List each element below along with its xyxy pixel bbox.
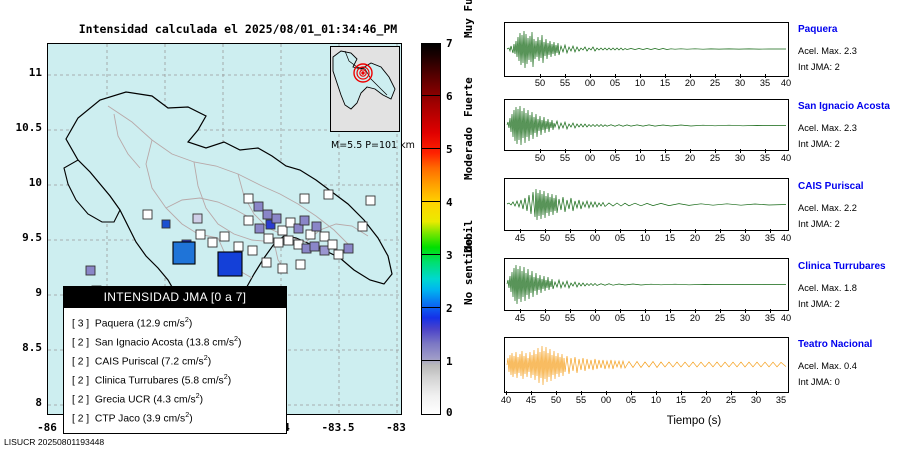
legend-level: [ 2 ]	[72, 356, 89, 367]
tick-label: 25	[704, 153, 726, 163]
station-label: San Ignacio Acosta	[798, 101, 890, 112]
station-marker-paquera	[173, 242, 195, 264]
jma-intensity: Int JMA: 0	[798, 377, 840, 387]
tick-label: 10	[645, 395, 667, 405]
colorbar-tick	[421, 360, 441, 361]
legend-accel: 3.9	[146, 414, 160, 425]
colorbar-label: 5	[446, 143, 460, 156]
legend-unit: cm/s	[202, 375, 224, 386]
epicenter-inset-map[interactable]	[330, 46, 400, 132]
tick-label: 30	[734, 313, 756, 323]
colorbar-label: 2	[446, 302, 460, 315]
lat-tick: 8.5	[0, 341, 42, 354]
tick-label: 10	[634, 233, 656, 243]
legend-unit: cm/s	[163, 414, 185, 425]
legend-station: CAIS Puriscal	[95, 356, 159, 367]
station-label: Teatro Nacional	[798, 339, 872, 350]
colorbar-category: Fuerte	[462, 77, 475, 117]
waveform-clinica-turrubares	[505, 259, 788, 310]
colorbar-label: 1	[446, 355, 460, 368]
tick-label: 15	[670, 395, 692, 405]
lat-tick: 10.5	[0, 121, 42, 134]
tick-label: 15	[659, 313, 681, 323]
tick-label: 50	[534, 233, 556, 243]
station-label: CAIS Puriscal	[798, 181, 864, 192]
jma-intensity: Int JMA: 2	[798, 219, 840, 229]
colorbar-tick	[421, 201, 441, 202]
colorbar-label: 4	[446, 196, 460, 209]
tick-label: 50	[529, 78, 551, 88]
station-label: Paquera	[798, 24, 837, 35]
peak-acceleration: Acel. Max. 2.3	[798, 46, 857, 56]
legend-station: San Ignacio Acosta	[95, 337, 183, 348]
tick-label: 10	[629, 78, 651, 88]
tick-label: 05	[604, 78, 626, 88]
colorbar-tick	[421, 148, 441, 149]
tick-label: 35	[754, 153, 776, 163]
tick-label: 00	[595, 395, 617, 405]
epicenter-icon	[354, 64, 372, 82]
waveform-teatro-nacional	[505, 338, 788, 392]
legend-level: [ 2 ]	[72, 375, 89, 386]
tick-label: 40	[495, 395, 517, 405]
lat-tick: 9.5	[0, 231, 42, 244]
lat-tick: 10	[0, 176, 42, 189]
list-item: [ 2 ] Clinica Turrubares (5.8 cm/s2)	[72, 370, 280, 389]
lat-tick: 8	[0, 396, 42, 409]
event-magnitude-depth: M=5.5 P=101 km	[331, 140, 415, 151]
tick-label: 15	[654, 153, 676, 163]
legend-accel: 12.9	[140, 318, 160, 329]
colorbar-label: 3	[446, 249, 460, 262]
seismogram-panel-clinica-turrubares[interactable]	[504, 258, 789, 311]
legend-unit: cm/s	[174, 394, 196, 405]
tick-label: 25	[709, 233, 731, 243]
tick-label: 10	[634, 313, 656, 323]
tick-label: 55	[554, 153, 576, 163]
tick-label: 05	[609, 233, 631, 243]
tick-label: 30	[729, 153, 751, 163]
colorbar-category: Muy Fuerte	[462, 0, 475, 38]
list-item: [ 2 ] CTP Jaco (3.9 cm/s2)	[72, 408, 280, 427]
tick-label: 25	[709, 313, 731, 323]
tick-label: 15	[659, 233, 681, 243]
station-label: Clinica Turrubares	[798, 261, 886, 272]
lat-tick: 11	[0, 66, 42, 79]
lon-tick: -83	[371, 421, 421, 434]
tick-label: 40	[775, 313, 797, 323]
tick-label: 55	[554, 78, 576, 88]
colorbar-tick	[421, 307, 441, 308]
colorbar-label: 7	[446, 37, 460, 50]
seismogram-panel-cais-puriscal[interactable]	[504, 178, 789, 231]
legend-title: INTENSIDAD JMA [0 a 7]	[64, 287, 286, 308]
waveform-san-ignacio	[505, 100, 788, 150]
station-marker-san-ignacio	[218, 252, 242, 276]
list-item: [ 3 ] Paquera (12.9 cm/s2)	[72, 313, 280, 332]
seismogram-panel-san-ignacio-acosta[interactable]	[504, 99, 789, 151]
tick-label: 40	[775, 153, 797, 163]
inset-graphics	[331, 47, 399, 131]
waveform-paquera	[505, 23, 788, 76]
tick-label: 20	[679, 78, 701, 88]
footer-stamp: LISUCR 20250801193448	[4, 437, 104, 447]
colorbar-category: Moderado	[462, 127, 475, 180]
peak-acceleration: Acel. Max. 1.8	[798, 283, 857, 293]
colorbar-category: No sentido	[462, 239, 475, 305]
peak-acceleration: Acel. Max. 2.3	[798, 123, 857, 133]
legend-unit: cm/s	[182, 356, 204, 367]
page-title: Intensidad calculada el 2025/08/01_01:34…	[68, 22, 408, 36]
tick-label: 25	[704, 78, 726, 88]
tick-label: 20	[684, 313, 706, 323]
colorbar-label: 0	[446, 406, 460, 419]
colorbar-label: 6	[446, 90, 460, 103]
peak-acceleration: Acel. Max. 0.4	[798, 361, 857, 371]
tick-label: 05	[609, 313, 631, 323]
legend-level: [ 3 ]	[72, 318, 89, 329]
tick-label: 05	[604, 153, 626, 163]
tick-label: 00	[579, 153, 601, 163]
colorbar-tick	[421, 254, 441, 255]
tick-label: 20	[695, 395, 717, 405]
legend-accel: 5.8	[185, 375, 199, 386]
tick-label: 05	[620, 395, 642, 405]
intensity-legend: INTENSIDAD JMA [0 a 7] [ 3 ] Paquera (12…	[63, 286, 287, 434]
tick-label: 40	[775, 233, 797, 243]
tick-label: 55	[570, 395, 592, 405]
tick-label: 45	[520, 395, 542, 405]
legend-entry-list: [ 3 ] Paquera (12.9 cm/s2) [ 2 ] San Ign…	[64, 308, 286, 433]
tick-label: 50	[529, 153, 551, 163]
tick-label: 50	[545, 395, 567, 405]
tick-label: 30	[734, 233, 756, 243]
tick-label: 45	[509, 313, 531, 323]
jma-intensity: Int JMA: 2	[798, 139, 840, 149]
legend-level: [ 2 ]	[72, 337, 89, 348]
legend-unit: cm/s	[212, 337, 234, 348]
legend-station: Grecia UCR	[95, 394, 151, 405]
tick-label: 50	[534, 313, 556, 323]
legend-unit: cm/s	[163, 318, 185, 329]
tick-label: 30	[745, 395, 767, 405]
lon-tick: -83.5	[313, 421, 363, 434]
tick-label: 45	[509, 233, 531, 243]
tick-label: 20	[684, 233, 706, 243]
peak-acceleration: Acel. Max. 2.2	[798, 203, 857, 213]
colorbar-tick	[421, 95, 441, 96]
legend-level: [ 2 ]	[72, 414, 89, 425]
tick-label: 10	[629, 153, 651, 163]
legend-station: CTP Jaco	[95, 414, 140, 425]
tick-label: 00	[579, 78, 601, 88]
x-axis-label: Tiempo (s)	[604, 415, 784, 427]
colorbar-gradient	[422, 44, 440, 414]
seismogram-panel-teatro-nacional[interactable]	[504, 337, 789, 393]
legend-station: Clinica Turrubares	[95, 375, 179, 386]
tick-label: 35	[770, 395, 792, 405]
waveform-cais-puriscal	[505, 179, 788, 230]
list-item: [ 2 ] CAIS Puriscal (7.2 cm/s2)	[72, 351, 280, 370]
legend-accel: 4.3	[157, 394, 171, 405]
tick-label: 55	[559, 313, 581, 323]
jma-intensity: Int JMA: 2	[798, 62, 840, 72]
tick-label: 25	[720, 395, 742, 405]
tick-label: 30	[729, 78, 751, 88]
tick-label: 35	[754, 78, 776, 88]
seismogram-panel-paquera[interactable]	[504, 22, 789, 77]
tick-label: 00	[584, 313, 606, 323]
legend-station: Paquera	[95, 318, 134, 329]
legend-accel: 13.8	[189, 337, 209, 348]
legend-level: [ 2 ]	[72, 394, 89, 405]
jma-intensity: Int JMA: 2	[798, 299, 840, 309]
legend-accel: 7.2	[165, 356, 179, 367]
tick-label: 00	[584, 233, 606, 243]
tick-label: 55	[559, 233, 581, 243]
list-item: [ 2 ] Grecia UCR (4.3 cm/s2)	[72, 389, 280, 408]
tick-label: 40	[775, 78, 797, 88]
tick-label: 20	[679, 153, 701, 163]
list-item: [ 2 ] San Ignacio Acosta (13.8 cm/s2)	[72, 332, 280, 351]
lat-tick: 9	[0, 286, 42, 299]
tick-label: 15	[654, 78, 676, 88]
